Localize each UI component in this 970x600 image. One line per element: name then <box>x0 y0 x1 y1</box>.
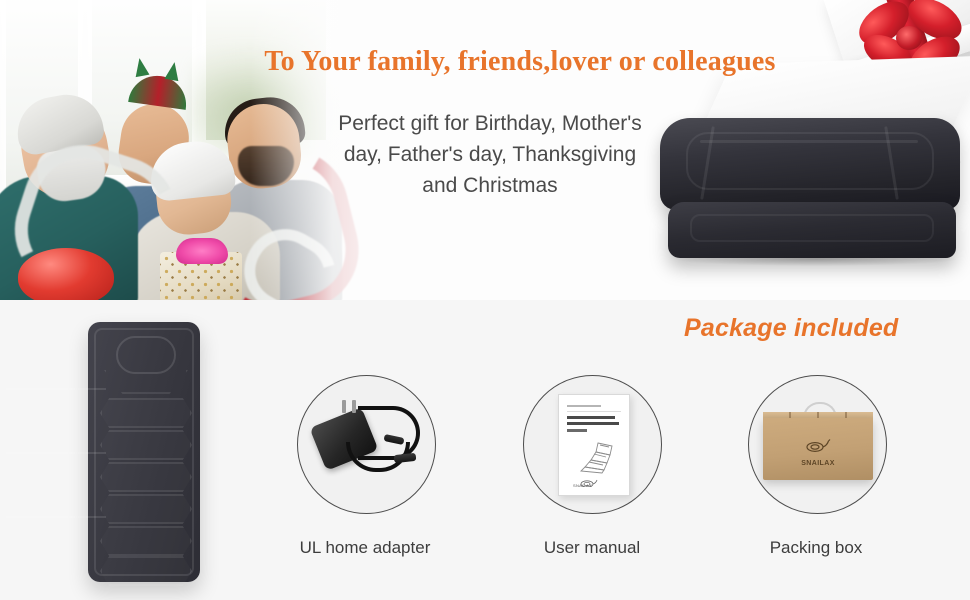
adapter-dc-tip <box>394 453 417 463</box>
mat-hex-cell <box>100 462 192 492</box>
mat-lower-slab <box>668 202 956 258</box>
package-included-title: Package included <box>684 314 898 343</box>
christmas-tree-icon <box>133 57 150 77</box>
manual-title-line <box>567 416 615 419</box>
banner-headline: To Your family, friends,lover or colleag… <box>210 46 830 78</box>
mat-headrest <box>116 336 176 374</box>
mat-hex-cell <box>100 494 192 524</box>
mat-panel-divider <box>6 516 106 518</box>
package-item-box-circle: SNAILAX <box>748 375 887 514</box>
adapter-prong <box>352 400 356 413</box>
package-item-caption: Packing box <box>716 538 916 558</box>
user-manual-icon: SNAILAX <box>558 394 630 496</box>
adapter-prongs <box>342 400 358 413</box>
mat-hex-cell <box>100 526 192 556</box>
ribbon-bow-knot <box>896 26 922 50</box>
product-marketing-image: To Your family, friends,lover or colleag… <box>0 0 970 600</box>
package-item-manual-circle: SNAILAX <box>523 375 662 514</box>
box-brand-name: SNAILAX <box>797 460 839 467</box>
mat-hex-cell <box>100 398 192 428</box>
manual-rule <box>567 411 621 412</box>
manual-model-line <box>567 429 587 432</box>
mat-panel-divider <box>6 452 106 454</box>
top-banner: To Your family, friends,lover or colleag… <box>0 0 970 300</box>
subheading-line: and Christmas <box>290 170 690 201</box>
package-item-caption: UL home adapter <box>265 538 465 558</box>
manual-title-line <box>567 422 619 425</box>
adapter-prong <box>342 400 346 413</box>
package-item-adapter-circle <box>297 375 436 514</box>
subheading-line: Perfect gift for Birthday, Mother's <box>290 108 690 139</box>
mat-hex-cell <box>100 430 192 460</box>
mat-hex-cell <box>100 556 192 586</box>
red-balloon <box>18 248 114 300</box>
manual-text-line <box>567 405 601 407</box>
box-brand-logo: SNAILAX <box>797 438 839 468</box>
mat-seam <box>700 140 918 143</box>
mat-panel-divider <box>6 388 106 390</box>
banner-subheading: Perfect gift for Birthday, Mother's day,… <box>290 108 690 201</box>
manual-brand-label: SNAILAX <box>573 483 592 488</box>
present-bow <box>176 238 228 264</box>
snail-logo-icon <box>798 438 838 454</box>
manual-product-drawing <box>571 441 619 475</box>
subheading-line: day, Father's day, Thanksgiving <box>290 139 690 170</box>
package-item-caption: User manual <box>492 538 692 558</box>
